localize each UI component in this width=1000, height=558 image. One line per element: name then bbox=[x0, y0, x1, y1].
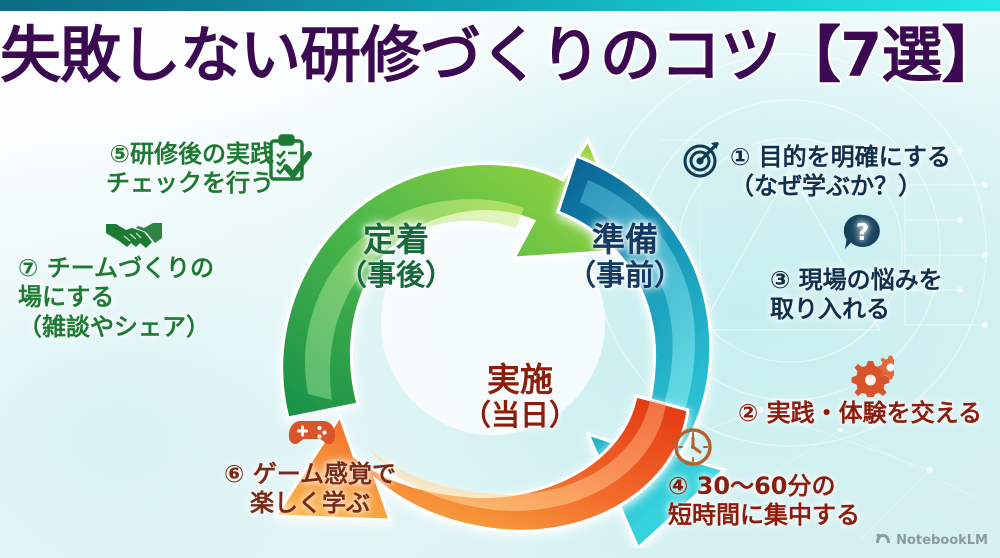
tip-item-3-line-2: 取り入れる bbox=[770, 295, 1000, 324]
svg-text:?: ? bbox=[856, 220, 869, 246]
cycle-label-junbi-sub: （事前） bbox=[545, 259, 705, 291]
gamepad-icon bbox=[288, 414, 336, 453]
tip-item-1: ① 目的を明確にする （なぜ学ぶか？） bbox=[730, 143, 996, 202]
tip-item-4-line-1: ④ 30〜60分の bbox=[668, 472, 968, 501]
tip-item-2-line-1: ② 実践・体験を交える bbox=[738, 399, 1000, 428]
target-icon bbox=[682, 139, 722, 184]
cycle-label-teichaku-name: 定着 bbox=[316, 222, 476, 259]
tip-item-4-line-2: 短時間に集中する bbox=[668, 501, 968, 530]
tip-item-6: ⑥ ゲーム感覚で 楽しく学ぶ bbox=[212, 460, 408, 519]
clock-icon bbox=[672, 426, 714, 473]
tip-item-4: ④ 30〜60分の 短時間に集中する bbox=[668, 472, 968, 531]
tip-item-7-line-3: （雑談やシェア） bbox=[18, 313, 288, 342]
tip-item-6-line-1: ⑥ ゲーム感覚で bbox=[212, 460, 408, 489]
handshake-icon bbox=[104, 214, 164, 255]
cycle-label-jisshi-sub: （当日） bbox=[440, 399, 600, 431]
cycle-label-junbi: 準備 （事前） bbox=[545, 222, 705, 291]
tip-item-1-line-2: （なぜ学ぶか？） bbox=[730, 172, 996, 201]
cycle-label-teichaku-sub: （事後） bbox=[316, 259, 476, 291]
tip-item-7-line-1: ⑦ チームづくりの bbox=[18, 254, 288, 283]
tip-item-5-line-2: チェックを行う bbox=[24, 169, 274, 198]
tip-item-7-line-2: 場にする bbox=[18, 283, 288, 312]
tip-item-6-line-2: 楽しく学ぶ bbox=[212, 489, 408, 518]
infographic-canvas: 失敗しない研修づくりのコツ【7選】 bbox=[0, 0, 1000, 558]
cycle-label-junbi-name: 準備 bbox=[545, 222, 705, 259]
cycle-label-teichaku: 定着 （事後） bbox=[316, 222, 476, 291]
gears-icon bbox=[844, 355, 894, 402]
top-accent-bar bbox=[0, 0, 1000, 11]
tip-item-7: ⑦ チームづくりの 場にする （雑談やシェア） bbox=[18, 254, 288, 342]
notebooklm-label: NotebookLM bbox=[896, 533, 988, 548]
cycle-label-jisshi: 実施 （当日） bbox=[440, 362, 600, 431]
page-title: 失敗しない研修づくりのコツ【7選】 bbox=[0, 24, 1000, 88]
notebooklm-icon bbox=[875, 532, 891, 549]
tip-item-5: ⑤研修後の実践 チェックを行う bbox=[24, 140, 274, 199]
tip-item-3: ? ③ 現場の悩みを 取り入れる bbox=[770, 266, 1000, 325]
notebooklm-watermark: NotebookLM bbox=[875, 532, 988, 549]
tip-item-1-line-1: ① 目的を明確にする bbox=[730, 143, 996, 172]
tip-item-2: ② 実践・体験を交える bbox=[738, 399, 1000, 428]
tip-item-5-line-1: ⑤研修後の実践 bbox=[24, 140, 274, 169]
question-bubble-icon: ? bbox=[842, 212, 884, 259]
clipboard-check-icon bbox=[266, 134, 312, 189]
tip-item-3-line-1: ③ 現場の悩みを bbox=[770, 266, 1000, 295]
cycle-label-jisshi-name: 実施 bbox=[440, 362, 600, 399]
